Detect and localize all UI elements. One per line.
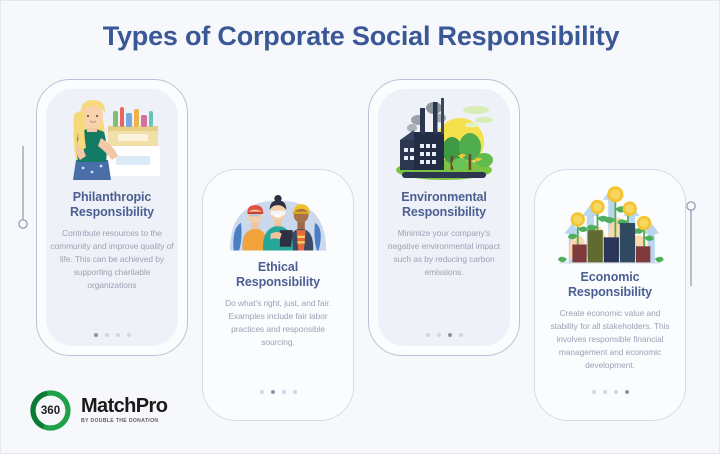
factory-and-nature-illustration: [388, 94, 500, 186]
card-heading: Environmental Responsibility: [401, 190, 487, 221]
page-title: Types of Corporate Social Responsibility: [1, 21, 720, 52]
card-body-text: Create economic value and stability for …: [548, 307, 672, 372]
card-heading-line1: Ethical: [258, 260, 298, 274]
card-content: Economic Responsibility Create economic …: [535, 170, 685, 420]
card-content: Environmental Responsibility Minimize yo…: [369, 80, 519, 355]
brand-logo[interactable]: 360 MatchPro BY DOUBLE THE DONATION: [29, 389, 167, 432]
card-dots[interactable]: [535, 390, 685, 394]
card-heading-line1: Environmental: [401, 190, 487, 204]
woman-with-donation-boxes-illustration: [56, 94, 168, 186]
card-heading-line2: Responsibility: [568, 285, 652, 299]
logo-wordmark: MatchPro BY DOUBLE THE DONATION: [81, 396, 167, 424]
dot-4[interactable]: [625, 390, 629, 394]
dot-1[interactable]: [260, 390, 264, 394]
card-heading: Economic Responsibility: [568, 270, 652, 301]
logo-badge-number: 360: [29, 389, 72, 432]
dot-2[interactable]: [271, 390, 275, 394]
card-heading-line2: Responsibility: [236, 275, 320, 289]
card-environmental[interactable]: Environmental Responsibility Minimize yo…: [368, 79, 520, 356]
dot-3[interactable]: [282, 390, 286, 394]
dot-1[interactable]: [94, 333, 98, 337]
card-heading-line2: Responsibility: [402, 205, 486, 219]
card-philanthropic[interactable]: Philanthropic Responsibility Contribute …: [36, 79, 188, 356]
card-ethical[interactable]: Ethical Responsibility Do what's right, …: [202, 169, 354, 421]
dot-3[interactable]: [614, 390, 618, 394]
card-body-text: Do what's right, just, and fair. Example…: [216, 297, 340, 349]
growth-bar-chart-with-coins-illustration: [550, 180, 670, 266]
dot-4[interactable]: [459, 333, 463, 337]
dot-4[interactable]: [293, 390, 297, 394]
infographic-frame: Types of Corporate Social Responsibility: [0, 0, 720, 454]
card-heading-line2: Responsibility: [70, 205, 154, 219]
logo-name: MatchPro: [81, 396, 167, 416]
card-heading: Ethical Responsibility: [236, 260, 320, 291]
card-heading-line1: Economic: [581, 270, 640, 284]
dot-3[interactable]: [116, 333, 120, 337]
card-dots[interactable]: [369, 333, 519, 337]
card-body-text: Minimize your company's negative environ…: [382, 227, 506, 279]
dot-1[interactable]: [592, 390, 596, 394]
dot-1[interactable]: [426, 333, 430, 337]
card-heading-line1: Philanthropic: [73, 190, 152, 204]
logo-tagline: BY DOUBLE THE DONATION: [81, 419, 167, 424]
dot-2[interactable]: [437, 333, 441, 337]
dot-2[interactable]: [603, 390, 607, 394]
card-body-text: Contribute resources to the community an…: [50, 227, 174, 292]
card-dots[interactable]: [37, 333, 187, 337]
dot-3[interactable]: [448, 333, 452, 337]
card-heading: Philanthropic Responsibility: [70, 190, 154, 221]
card-dots[interactable]: [203, 390, 353, 394]
card-content: Ethical Responsibility Do what's right, …: [203, 170, 353, 420]
dot-4[interactable]: [127, 333, 131, 337]
dot-2[interactable]: [105, 333, 109, 337]
logo-ring-icon: 360: [29, 389, 72, 432]
three-workers-illustration: [218, 182, 338, 256]
card-content: Philanthropic Responsibility Contribute …: [37, 80, 187, 355]
card-economic[interactable]: Economic Responsibility Create economic …: [534, 169, 686, 421]
